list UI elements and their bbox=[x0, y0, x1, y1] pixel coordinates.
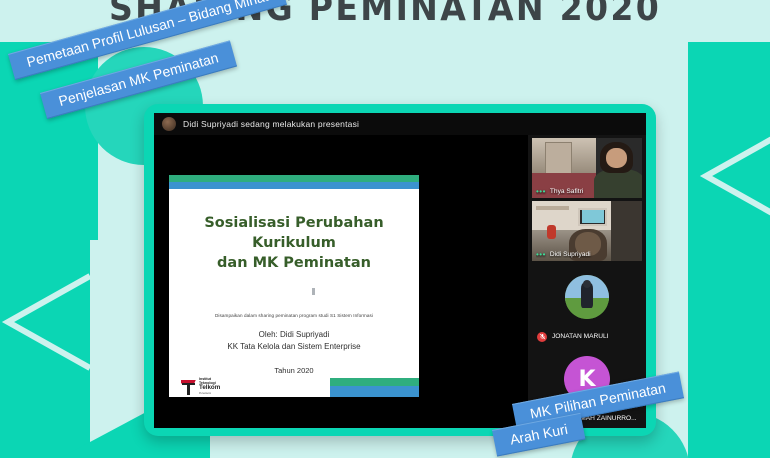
slide-subtitle: Disampaikan dalam sharing peminatan prog… bbox=[177, 313, 411, 318]
mouse-cursor-icon bbox=[312, 288, 315, 295]
slide-bottom-green-accent bbox=[330, 378, 419, 386]
slide-top-blue-bar bbox=[169, 182, 419, 189]
background-teal-right-bar bbox=[0, 416, 82, 458]
participant-name-row: JONATAN MARULI bbox=[532, 330, 642, 343]
participant-name-row: ••• Thya Safitri bbox=[536, 188, 639, 195]
participant-tile-thya-safitri[interactable]: ••• Thya Safitri bbox=[532, 138, 642, 198]
slide-bottom-blue-accent bbox=[330, 386, 419, 397]
slide-author-line-1: Oleh: Didi Supriyadi bbox=[177, 329, 411, 341]
person-avatar-icon bbox=[162, 117, 176, 131]
participant-tile-didi-supriyadi[interactable]: ••• Didi Supriyadi bbox=[532, 201, 642, 261]
participant-avatar-jonatan-maruli[interactable] bbox=[532, 264, 642, 330]
slide-year: Tahun 2020 bbox=[177, 366, 411, 375]
slide-title: Sosialisasi Perubahan Kurikulum dan MK P… bbox=[177, 213, 411, 273]
presentation-slide: Sosialisasi Perubahan Kurikulum dan MK P… bbox=[169, 175, 419, 397]
shared-screen-stage[interactable]: Sosialisasi Perubahan Kurikulum dan MK P… bbox=[154, 135, 528, 428]
more-options-icon[interactable]: ••• bbox=[536, 189, 546, 195]
slide-author: Oleh: Didi Supriyadi KK Tata Kelola dan … bbox=[177, 329, 411, 353]
more-options-icon[interactable]: ••• bbox=[536, 252, 546, 258]
meeting-screen: Didi Supriyadi sedang melakukan presenta… bbox=[154, 113, 646, 428]
chevron-right-icon bbox=[688, 118, 770, 238]
telkom-logo-mark-icon bbox=[181, 379, 197, 395]
slide-author-line-2: KK Tata Kelola dan Sistem Enterprise bbox=[177, 341, 411, 353]
mic-off-icon[interactable] bbox=[537, 332, 547, 342]
chevron-left-icon bbox=[0, 262, 114, 382]
avatar bbox=[565, 275, 609, 319]
participant-video-thya-safitri[interactable]: ••• Thya Safitri bbox=[532, 138, 642, 198]
participant-name-row: ••• Didi Supriyadi bbox=[536, 251, 639, 258]
presenting-status-text: Didi Supriyadi sedang melakukan presenta… bbox=[183, 119, 359, 129]
slide-title-line-1: Sosialisasi Perubahan Kurikulum bbox=[177, 213, 411, 253]
telkom-logo: Institut Teknologi Telkom Purwokerto bbox=[181, 378, 243, 395]
logo-line-4: Purwokerto bbox=[199, 392, 220, 396]
participant-video-didi-supriyadi[interactable]: ••• Didi Supriyadi bbox=[532, 201, 642, 261]
participant-tile-jonatan-maruli[interactable]: JONATAN MARULI bbox=[532, 264, 642, 343]
participant-name: JONATAN MARULI bbox=[552, 333, 609, 340]
logo-line-3: Telkom bbox=[199, 385, 220, 392]
poster-background: SHARING PEMINATAN 2020 Didi Supriyadi se… bbox=[0, 0, 770, 458]
laptop-frame: Didi Supriyadi sedang melakukan presenta… bbox=[144, 104, 656, 436]
participant-name: Didi Supriyadi bbox=[550, 251, 591, 258]
slide-title-line-2: dan MK Peminatan bbox=[177, 253, 411, 273]
participant-name: Thya Safitri bbox=[550, 188, 583, 195]
presenting-status-bar: Didi Supriyadi sedang melakukan presenta… bbox=[154, 113, 646, 135]
slide-top-green-bar bbox=[169, 175, 419, 182]
